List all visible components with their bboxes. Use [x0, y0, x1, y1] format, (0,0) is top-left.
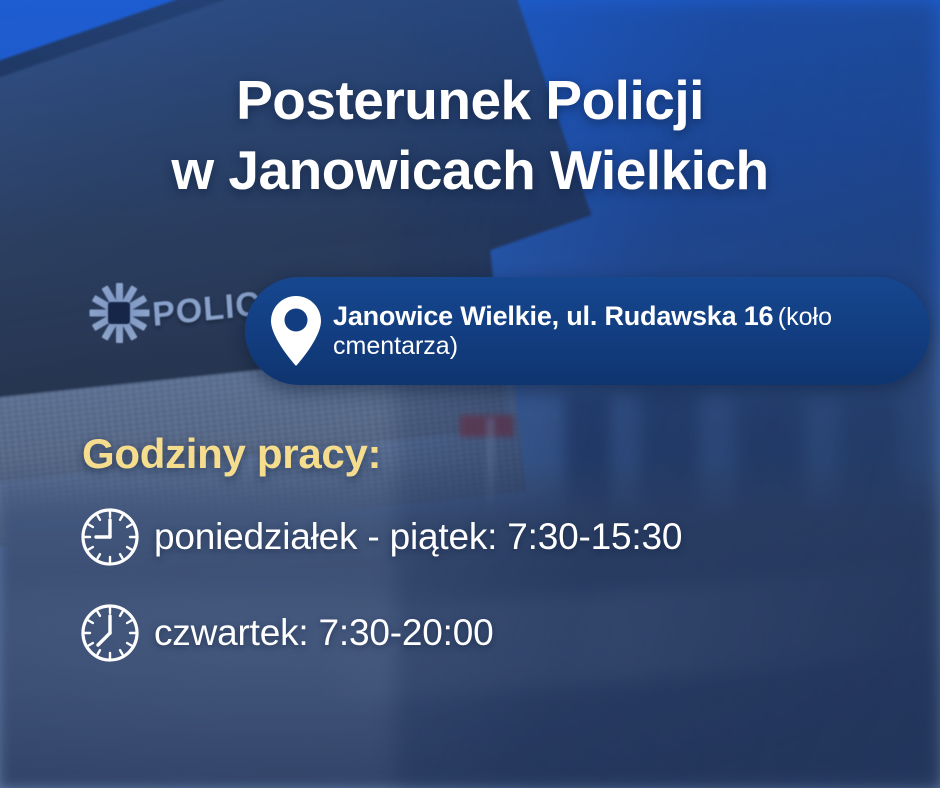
page-title-line-1: Posterunek Policji: [28, 72, 912, 128]
address-text: Janowice Wielkie, ul. Rudawska 16 (koło …: [333, 302, 904, 361]
address-banner: Janowice Wielkie, ul. Rudawska 16 (koło …: [245, 277, 930, 385]
clock-icon: [78, 505, 142, 569]
police-station-info-poster: POLICJA Posterunek Policji w Janowicach …: [0, 0, 940, 788]
clock-icon: [78, 601, 142, 665]
address-line-1: Janowice Wielkie, ul. Rudawska 16: [333, 301, 773, 331]
opening-hours-label: poniedziałek - piątek: 7:30-15:30: [154, 516, 682, 558]
opening-hours-row: poniedziałek - piątek: 7:30-15:30: [78, 505, 682, 569]
opening-hours-row: czwartek: 7:30-20:00: [78, 601, 682, 665]
page-title: Posterunek Policji w Janowicach Wielkich: [0, 72, 940, 198]
page-title-line-2: w Janowicach Wielkich: [28, 142, 912, 198]
opening-hours-heading: Godziny pracy:: [82, 430, 381, 478]
opening-hours-label: czwartek: 7:30-20:00: [154, 612, 493, 654]
location-pin-icon: [267, 294, 325, 368]
poster-content: Posterunek Policji w Janowicach Wielkich…: [0, 0, 940, 788]
opening-hours-list: poniedziałek - piątek: 7:30-15:30: [78, 505, 682, 697]
